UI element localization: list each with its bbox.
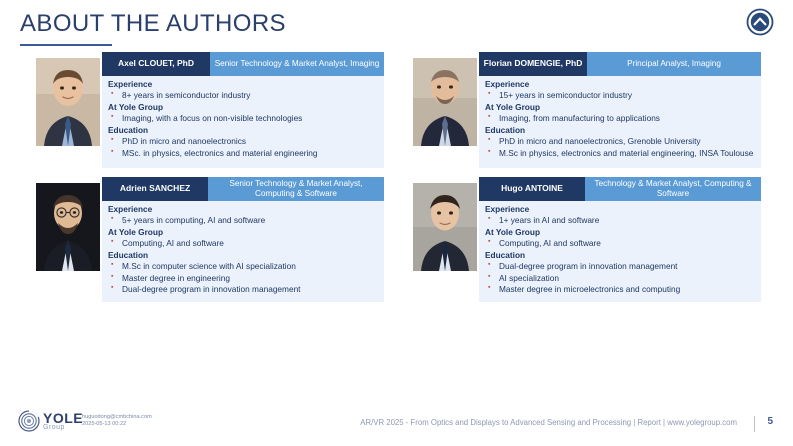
- card-sections: Experience 1+ years in AI and software A…: [479, 201, 761, 302]
- list-item: 8+ years in semiconductor industry: [108, 90, 378, 101]
- footer: YOLE Group huguodong@cmbchina.com 2025-0…: [0, 404, 793, 446]
- section-bullets: Computing, AI and software: [485, 238, 755, 249]
- section-bullets: 15+ years in semiconductor industry: [485, 90, 755, 101]
- card-sections: Experience 15+ years in semiconductor in…: [479, 76, 761, 165]
- yole-logo: YOLE Group: [18, 410, 83, 432]
- section-bullets: Imaging, with a focus on non-visible tec…: [108, 113, 378, 124]
- list-item: Dual-degree program in innovation manage…: [485, 261, 755, 272]
- author-card: Adrien SANCHEZ Senior Technology & Marke…: [36, 177, 384, 299]
- author-card: Florian DOMENGIE, PhD Principal Analyst,…: [413, 52, 761, 174]
- page-number: 5: [767, 416, 773, 427]
- title-underline: [20, 44, 112, 46]
- avatar: [413, 183, 477, 271]
- footer-caption: AR/VR 2025 - From Optics and Displays to…: [360, 418, 737, 427]
- section-label: At Yole Group: [108, 227, 378, 238]
- author-role: Technology & Market Analyst, Computing &…: [585, 177, 761, 201]
- card-header: Adrien SANCHEZ Senior Technology & Marke…: [102, 177, 384, 201]
- watermark-date: 2025-05-13 00:22: [82, 421, 152, 428]
- card-body: Florian DOMENGIE, PhD Principal Analyst,…: [479, 52, 761, 168]
- section-bullets: M.Sc in computer science with AI special…: [108, 261, 378, 295]
- author-name: Adrien SANCHEZ: [102, 177, 208, 201]
- author-role: Senior Technology & Market Analyst, Imag…: [210, 52, 384, 76]
- list-item: Master degree in microelectronics and co…: [485, 284, 755, 295]
- avatar: [413, 58, 477, 146]
- section-label: Education: [485, 125, 755, 136]
- logo-wordmark: YOLE: [43, 411, 83, 425]
- list-item: MSc. in physics, electronics and materia…: [108, 148, 378, 159]
- slide: ABOUT THE AUTHORS: [0, 0, 793, 446]
- list-item: Computing, AI and software: [485, 238, 755, 249]
- list-item: 1+ years in AI and software: [485, 215, 755, 226]
- section-label: Experience: [485, 79, 755, 90]
- list-item: Computing, AI and software: [108, 238, 378, 249]
- list-item: Imaging, from manufacturing to applicati…: [485, 113, 755, 124]
- author-role: Senior Technology & Market Analyst, Comp…: [208, 177, 384, 201]
- author-role: Principal Analyst, Imaging: [587, 52, 761, 76]
- list-item: Dual-degree program in innovation manage…: [108, 284, 378, 295]
- section-bullets: Dual-degree program in innovation manage…: [485, 261, 755, 295]
- section-label: Education: [108, 250, 378, 261]
- section-label: Experience: [108, 204, 378, 215]
- list-item: M.Sc in physics, electronics and materia…: [485, 148, 755, 159]
- list-item: 15+ years in semiconductor industry: [485, 90, 755, 101]
- author-name: Hugo ANTOINE: [479, 177, 585, 201]
- card-body: Axel CLOUET, PhD Senior Technology & Mar…: [102, 52, 384, 168]
- card-header: Hugo ANTOINE Technology & Market Analyst…: [479, 177, 761, 201]
- section-bullets: Computing, AI and software: [108, 238, 378, 249]
- card-header: Axel CLOUET, PhD Senior Technology & Mar…: [102, 52, 384, 76]
- watermark-email: huguodong@cmbchina.com: [82, 414, 152, 421]
- section-label: Experience: [108, 79, 378, 90]
- card-header: Florian DOMENGIE, PhD Principal Analyst,…: [479, 52, 761, 76]
- list-item: Master degree in engineering: [108, 273, 378, 284]
- yole-spiral-icon: [18, 410, 40, 432]
- author-name: Florian DOMENGIE, PhD: [479, 52, 587, 76]
- list-item: M.Sc in computer science with AI special…: [108, 261, 378, 272]
- section-label: At Yole Group: [485, 102, 755, 113]
- footer-divider: [754, 416, 755, 432]
- section-bullets: 5+ years in computing, AI and software: [108, 215, 378, 226]
- section-bullets: PhD in micro and nanoelectronics, Grenob…: [485, 136, 755, 159]
- section-label: Experience: [485, 204, 755, 215]
- section-bullets: Imaging, from manufacturing to applicati…: [485, 113, 755, 124]
- chevron-up-circle-icon[interactable]: [745, 7, 775, 37]
- card-body: Adrien SANCHEZ Senior Technology & Marke…: [102, 177, 384, 302]
- avatar: [36, 183, 100, 271]
- list-item: AI specialization: [485, 273, 755, 284]
- section-label: Education: [485, 250, 755, 261]
- author-card: Hugo ANTOINE Technology & Market Analyst…: [413, 177, 761, 299]
- avatar: [36, 58, 100, 146]
- card-body: Hugo ANTOINE Technology & Market Analyst…: [479, 177, 761, 302]
- section-label: At Yole Group: [108, 102, 378, 113]
- card-sections: Experience 8+ years in semiconductor ind…: [102, 76, 384, 165]
- watermark: huguodong@cmbchina.com 2025-05-13 00:22: [82, 414, 152, 428]
- list-item: 5+ years in computing, AI and software: [108, 215, 378, 226]
- section-bullets: 8+ years in semiconductor industry: [108, 90, 378, 101]
- list-item: Imaging, with a focus on non-visible tec…: [108, 113, 378, 124]
- page-title: ABOUT THE AUTHORS: [20, 10, 286, 38]
- list-item: PhD in micro and nanoelectronics: [108, 136, 378, 147]
- author-card: Axel CLOUET, PhD Senior Technology & Mar…: [36, 52, 384, 174]
- section-bullets: PhD in micro and nanoelectronics MSc. in…: [108, 136, 378, 159]
- section-label: At Yole Group: [485, 227, 755, 238]
- section-label: Education: [108, 125, 378, 136]
- section-bullets: 1+ years in AI and software: [485, 215, 755, 226]
- card-sections: Experience 5+ years in computing, AI and…: [102, 201, 384, 302]
- list-item: PhD in micro and nanoelectronics, Grenob…: [485, 136, 755, 147]
- author-name: Axel CLOUET, PhD: [102, 52, 210, 76]
